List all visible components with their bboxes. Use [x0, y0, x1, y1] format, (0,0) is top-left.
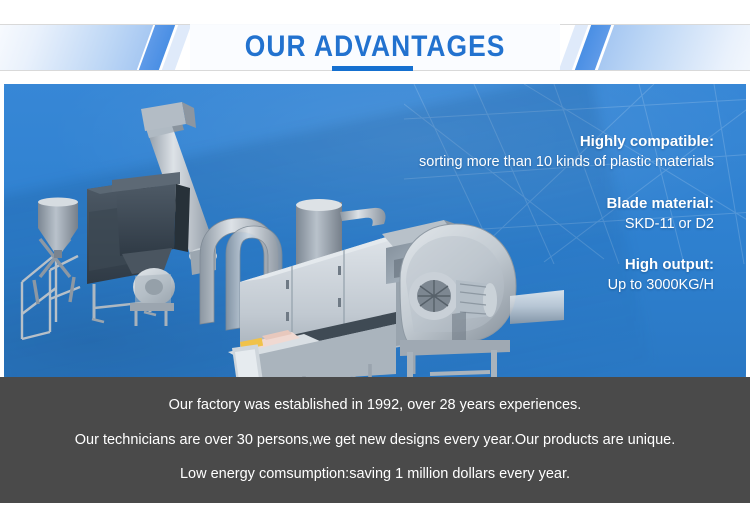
- machine-small-blower: [130, 268, 175, 326]
- footer-line: Our technicians are over 30 persons,we g…: [75, 433, 675, 448]
- feature-item: Highly compatible: sorting more than 10 …: [364, 132, 714, 173]
- feature-value: sorting more than 10 kinds of plastic ma…: [364, 152, 714, 172]
- page-title-container: OUR ADVANTAGES: [190, 24, 560, 70]
- page-title-underline: [332, 66, 413, 71]
- header-decoration-left-wide: [0, 25, 153, 70]
- feature-item: Blade material: SKD-11 or D2: [364, 194, 714, 235]
- hero-panel: Highly compatible: sorting more than 10 …: [4, 84, 746, 377]
- page-title: OUR ADVANTAGES: [245, 32, 506, 62]
- header-decoration-right-wide: [598, 25, 750, 70]
- footer-line: Our factory was established in 1992, ove…: [169, 398, 582, 413]
- footer-bar: Our factory was established in 1992, ove…: [0, 377, 750, 503]
- header-banner: OUR ADVANTAGES: [0, 0, 750, 84]
- feature-label: High output:: [364, 255, 714, 275]
- feature-list: Highly compatible: sorting more than 10 …: [364, 132, 714, 296]
- machine-cyclone-left: [38, 198, 78, 259]
- feature-value: Up to 3000KG/H: [364, 275, 714, 295]
- feature-label: Blade material:: [364, 194, 714, 214]
- footer-line: Low energy comsumption:saving 1 million …: [180, 467, 570, 482]
- feature-value: SKD-11 or D2: [364, 214, 714, 234]
- feature-item: High output: Up to 3000KG/H: [364, 255, 714, 296]
- feature-label: Highly compatible:: [364, 132, 714, 152]
